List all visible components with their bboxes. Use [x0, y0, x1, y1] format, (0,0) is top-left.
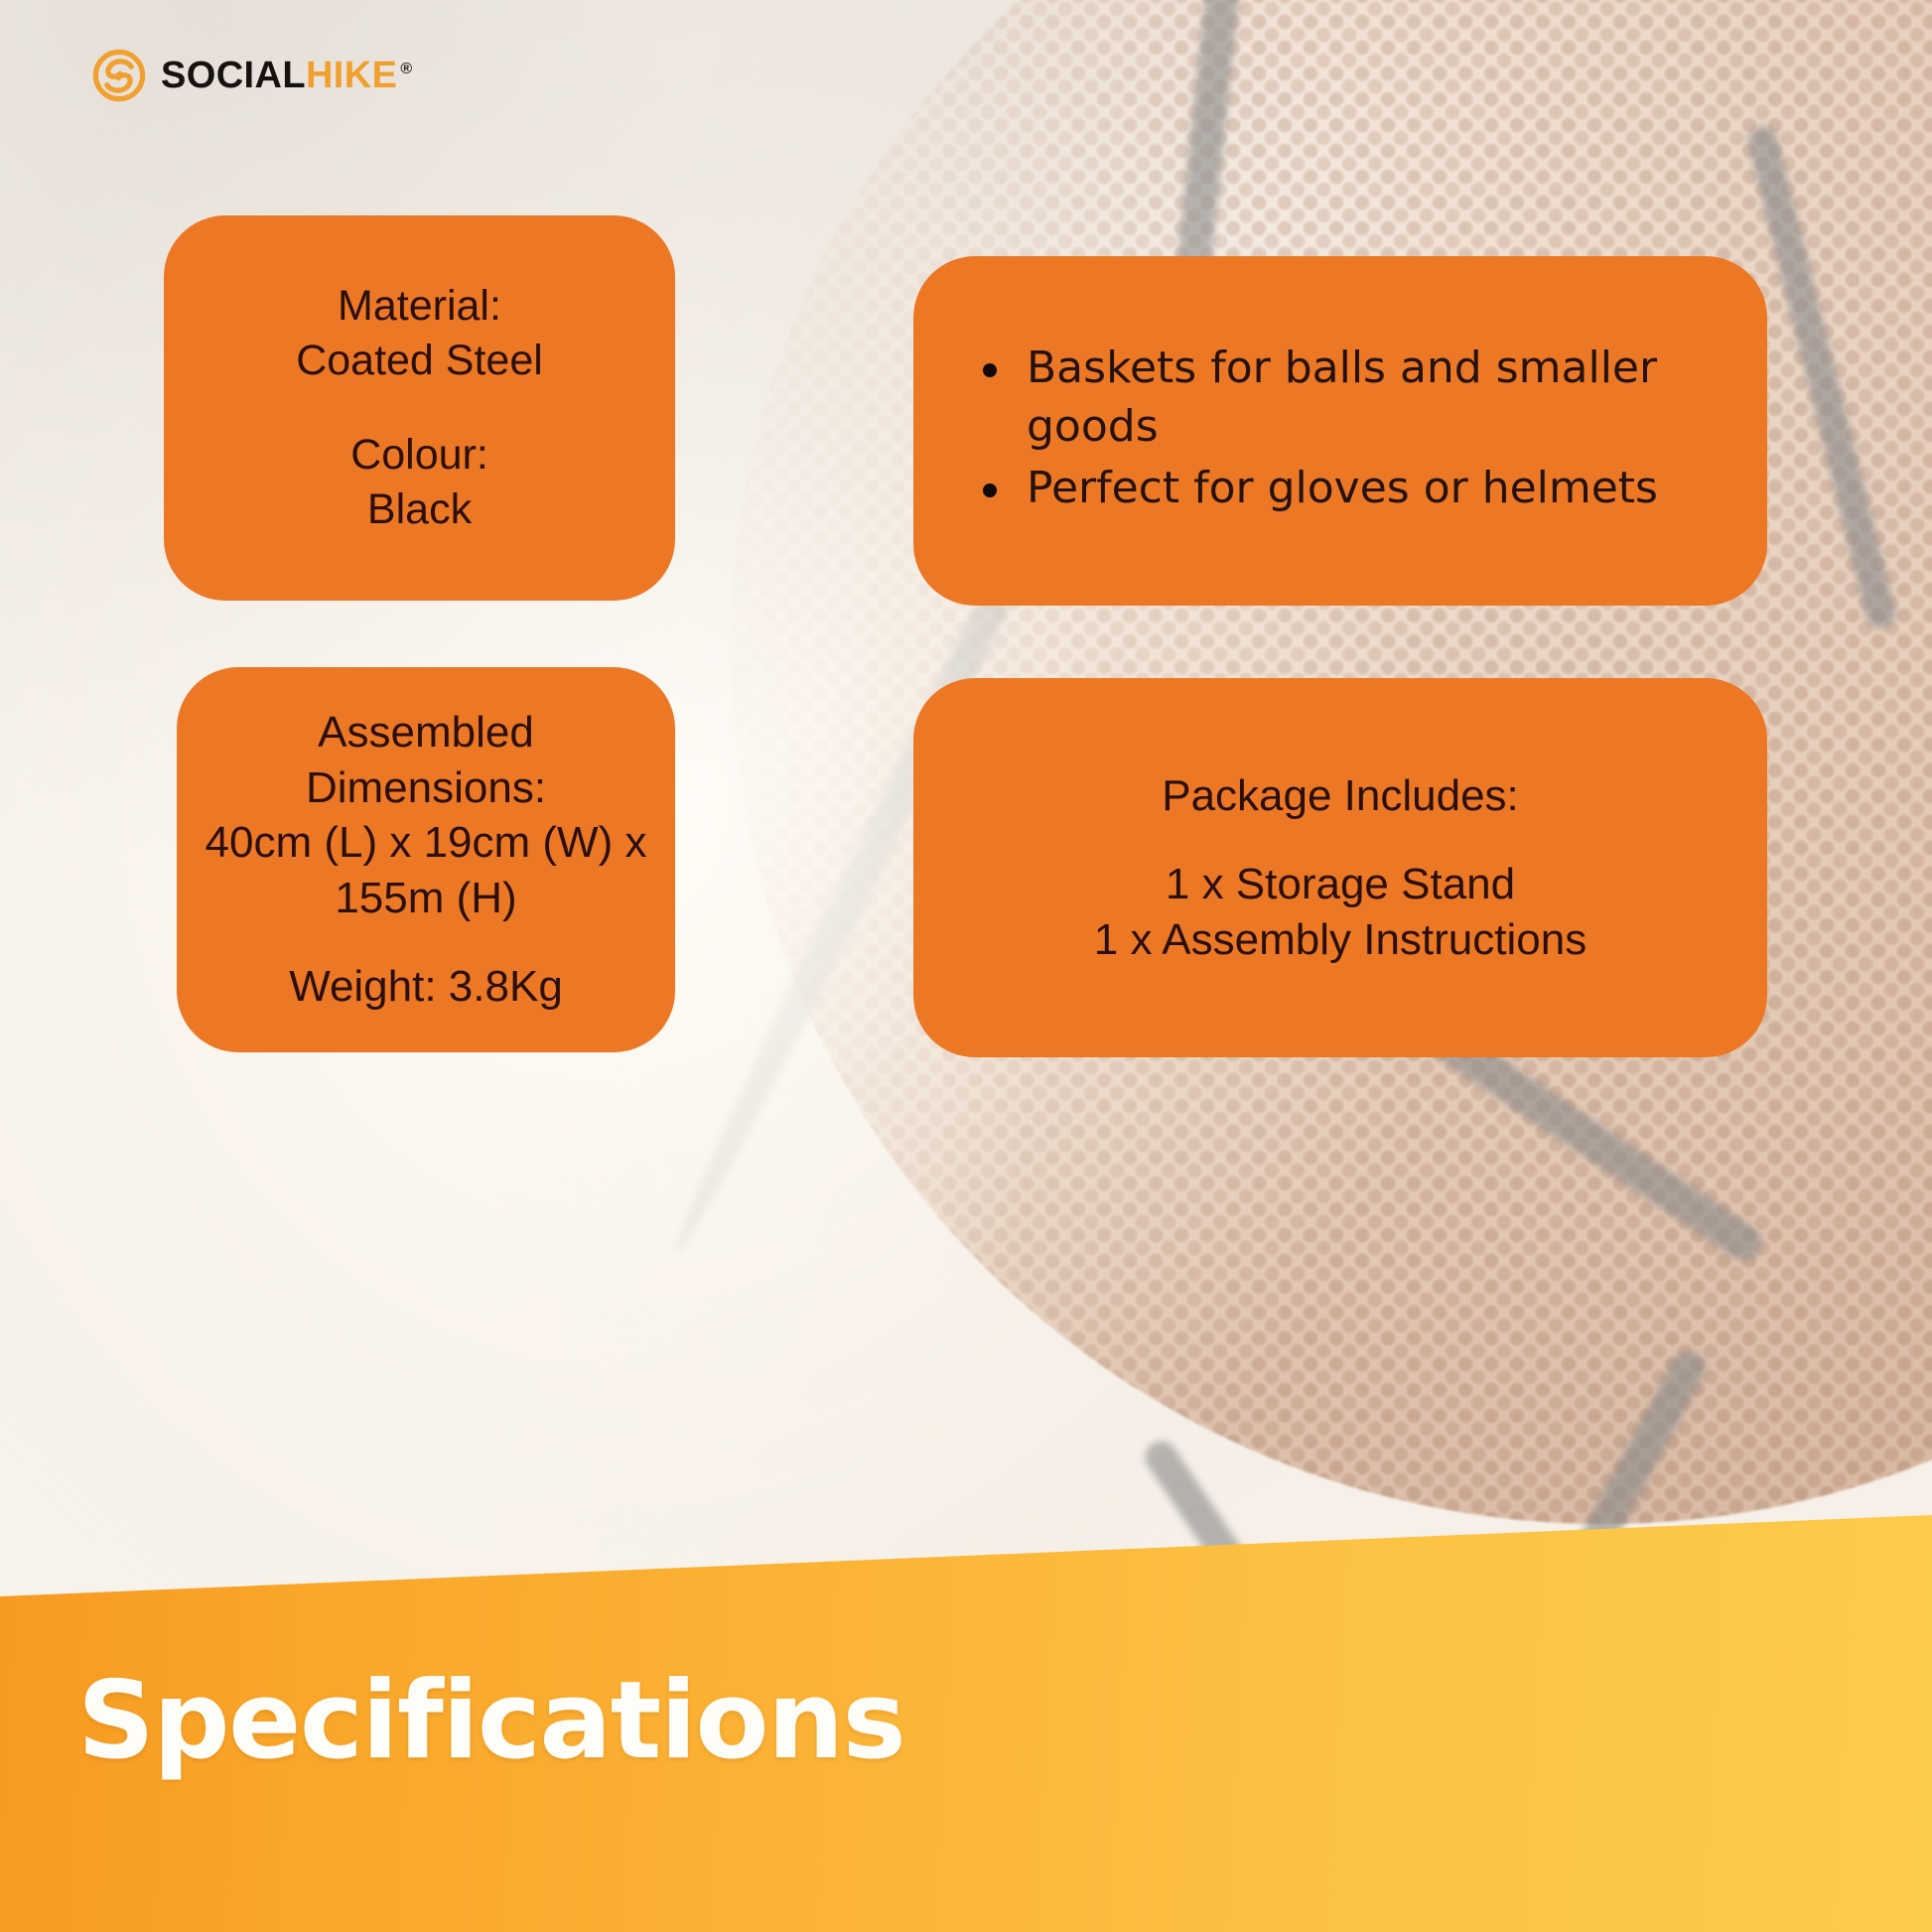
brand-wordmark: SOCIALHIKE®: [161, 57, 413, 94]
package-item-2: 1 x Assembly Instructions: [953, 912, 1727, 967]
dimensions-label: Assembled Dimensions:: [199, 705, 653, 815]
card-spacer: [198, 388, 641, 428]
colour-value: Black: [198, 483, 641, 537]
specifications-poster: SOCIALHIKE® Material: Coated Steel Colou…: [0, 0, 1932, 1932]
list-item: Baskets for balls and smaller goods: [975, 340, 1706, 457]
features-card: Baskets for balls and smaller goods Perf…: [913, 256, 1767, 606]
colour-label: Colour:: [198, 428, 641, 483]
registered-trademark-icon: ®: [400, 61, 412, 77]
material-label: Material:: [198, 279, 641, 334]
package-card: Package Includes: 1 x Storage Stand 1 x …: [913, 678, 1767, 1057]
package-label: Package Includes:: [953, 768, 1727, 823]
brand-name-part1: SOCIAL: [161, 55, 306, 96]
dimensions-card: Assembled Dimensions: 40cm (L) x 19cm (W…: [177, 667, 675, 1052]
page-title: Specifications: [77, 1668, 904, 1775]
card-spacer: [953, 823, 1727, 857]
card-spacer: [199, 925, 653, 959]
socialhike-spiral-logo-icon: [91, 48, 147, 103]
dimensions-value-line2: 155m (H): [199, 871, 653, 925]
features-list: Baskets for balls and smaller goods Perf…: [975, 340, 1706, 523]
dimensions-value-line1: 40cm (L) x 19cm (W) x: [199, 815, 653, 870]
material-value: Coated Steel: [198, 334, 641, 388]
brand-name-part2: HIKE: [306, 55, 397, 96]
material-colour-card: Material: Coated Steel Colour: Black: [164, 215, 675, 601]
weight-value: Weight: 3.8Kg: [199, 959, 653, 1014]
brand-logo[interactable]: SOCIALHIKE®: [91, 48, 413, 103]
list-item: Perfect for gloves or helmets: [975, 460, 1706, 518]
package-item-1: 1 x Storage Stand: [953, 857, 1727, 911]
